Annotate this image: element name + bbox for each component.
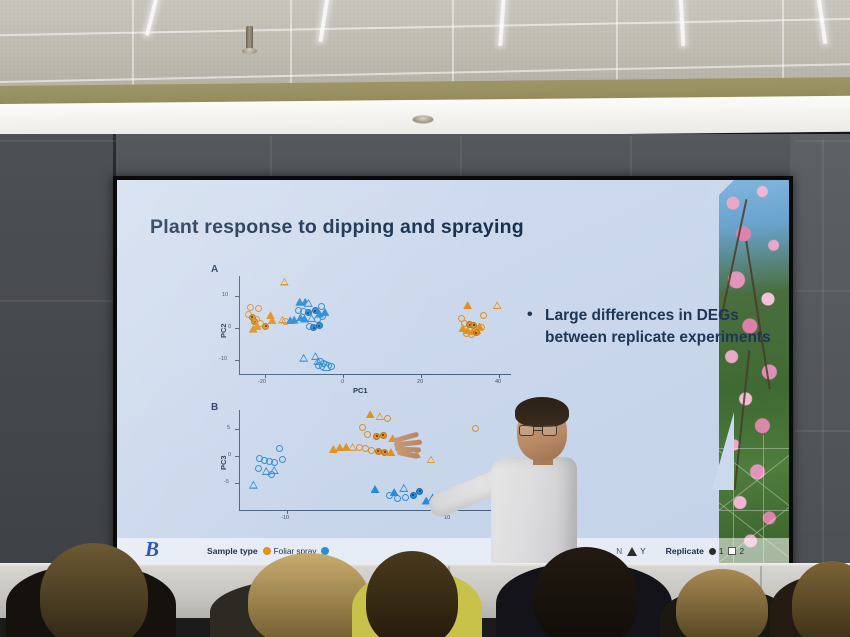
data-point <box>416 488 423 495</box>
data-point <box>255 305 262 312</box>
data-point <box>249 481 258 489</box>
wall-seam <box>822 140 824 574</box>
data-point <box>493 301 502 309</box>
data-point <box>380 432 387 439</box>
data-point <box>364 431 371 438</box>
panel-a-x-axis <box>239 374 511 375</box>
audience-head <box>792 561 850 637</box>
panel-b-letter: B <box>211 402 218 413</box>
panel-b-ylabel: PC3 <box>219 455 228 470</box>
marker-center-dot <box>419 490 421 492</box>
panel-a-xtick: 40 <box>495 379 501 385</box>
data-point <box>399 484 408 492</box>
wall-right-section <box>790 134 850 574</box>
slide-bullet-item: Large differences in DEGs between replic… <box>525 305 775 349</box>
ceiling-grid-line <box>452 0 454 92</box>
audience-head <box>366 551 458 637</box>
data-point <box>268 471 275 478</box>
data-point <box>371 485 380 493</box>
marker-center-dot <box>376 435 378 437</box>
data-point <box>299 354 308 362</box>
plant-photo <box>719 180 789 564</box>
data-point <box>394 495 401 502</box>
presenter-hand <box>393 433 423 457</box>
slide-title: Plant response to dipping and spraying <box>150 216 524 239</box>
data-point <box>375 412 384 420</box>
wall-seam <box>630 136 632 178</box>
panel-a-ytick: 0 <box>228 324 231 330</box>
ceiling-grid-line <box>616 0 618 92</box>
data-point <box>279 456 286 463</box>
presenter-glasses-icon <box>519 425 557 436</box>
data-point <box>286 316 295 324</box>
audience-head <box>534 547 638 637</box>
data-point <box>427 455 436 463</box>
marker-center-dot <box>265 325 267 327</box>
panel-b-ytick: 0 <box>228 452 231 458</box>
photo-geometric-overlay <box>719 180 789 564</box>
presenter-hair <box>515 397 569 427</box>
panel-a-xtick: -20 <box>258 379 266 385</box>
recessed-downlight-icon <box>412 115 434 124</box>
data-point <box>262 323 269 330</box>
panel-a-ylabel: PC2 <box>219 323 228 338</box>
data-point <box>480 312 487 319</box>
panel-b-ytick: 5 <box>227 425 230 431</box>
wall-seam <box>460 136 462 178</box>
data-point <box>473 329 480 336</box>
data-point <box>463 301 472 309</box>
panel-a-xlabel: PC1 <box>353 386 368 395</box>
marker-center-dot <box>313 327 315 329</box>
panel-a-plot-area <box>239 276 511 374</box>
marker-center-dot <box>377 450 379 452</box>
wall-seam <box>0 140 116 142</box>
data-point <box>304 299 313 307</box>
ceiling-grid-line <box>290 0 292 92</box>
panel-b-xtick: 10 <box>444 515 450 521</box>
data-point <box>268 316 277 324</box>
slide-bullet-list: Large differences in DEGs between replic… <box>525 305 775 349</box>
data-point <box>386 492 393 499</box>
marker-center-dot <box>412 494 414 496</box>
data-point <box>316 322 323 329</box>
data-point <box>322 363 331 371</box>
marker-center-dot <box>382 434 384 436</box>
data-point <box>319 313 326 320</box>
sprinkler-head-icon <box>246 26 253 50</box>
wall-left-section <box>0 134 116 574</box>
data-point <box>366 410 375 418</box>
marker-center-dot <box>318 325 320 327</box>
panel-b-xtick: -10 <box>281 515 289 521</box>
wall-seam <box>0 300 116 302</box>
data-point <box>280 278 289 286</box>
data-point <box>249 325 258 333</box>
data-point <box>402 494 409 501</box>
panel-a-ytick: -10 <box>219 356 227 362</box>
data-point <box>255 465 262 472</box>
audience <box>0 532 850 637</box>
data-point <box>247 304 254 311</box>
data-point <box>373 433 380 440</box>
panel-a-xtick: 0 <box>341 379 344 385</box>
audience-head <box>676 569 768 637</box>
panel-b-ytick: -5 <box>224 479 229 485</box>
panel-a-letter: A <box>211 264 218 275</box>
marker-center-dot <box>384 451 386 453</box>
audience-head <box>40 543 148 637</box>
data-point <box>276 445 283 452</box>
chart-panel-a: A 10 0 -10 -20 0 20 40 <box>213 266 513 384</box>
presentation-scene: Plant response to dipping and spraying L… <box>0 0 850 637</box>
panel-a-xtick: 20 <box>417 379 423 385</box>
data-point <box>384 415 391 422</box>
panel-a-ytick: 10 <box>222 292 228 298</box>
data-point <box>359 424 366 431</box>
wall-seam <box>270 136 272 178</box>
marker-center-dot <box>475 332 477 334</box>
ceiling-grid-line <box>132 0 134 92</box>
